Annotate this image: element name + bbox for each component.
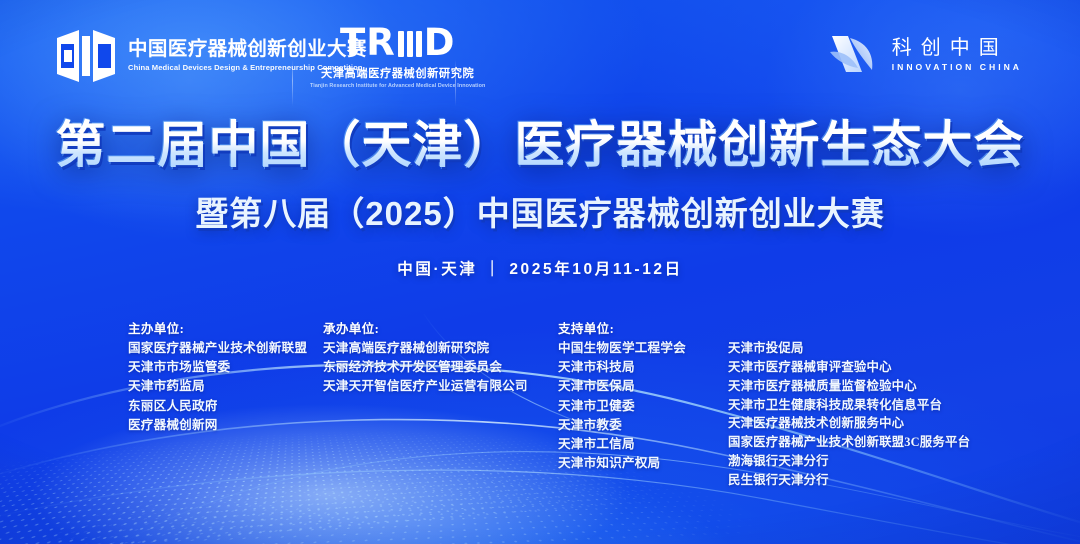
organizer-item: 天津医疗器械技术创新服务中心	[728, 414, 988, 433]
logo-innovation-china-en: INNOVATION CHINA	[892, 62, 1022, 72]
organizer-item: 天津市卫健委	[558, 397, 728, 416]
organizer-item: 医疗器械创新网	[128, 416, 323, 435]
organizer-item: 天津天开智信医疗产业运营有限公司	[323, 377, 558, 396]
organizer-column-supporter-continued: 天津市投促局 天津市医疗器械审评查验中心 天津市医疗器械质量监督检验中心 天津市…	[728, 320, 988, 490]
page-title: 第二届中国（天津）医疗器械创新生态大会	[56, 118, 1025, 173]
organizer-item: 天津市医疗器械质量监督检验中心	[728, 377, 988, 396]
innovation-china-logo-icon	[828, 32, 880, 76]
organizer-item: 天津市工信局	[558, 435, 728, 454]
organizer-column-organizer: 承办单位: 天津高端医疗器械创新研究院 东丽经济技术开发区管理委员会 天津天开智…	[323, 320, 558, 397]
organizer-column-supporter: 支持单位: 中国生物医学工程学会 天津市科技局 天津市医保局 天津市卫健委 天津…	[558, 320, 728, 473]
logo-bar: 中国医疗器械创新创业大赛 China Medical Devices Desig…	[0, 26, 1080, 88]
organizer-item: 国家医疗器械产业技术创新联盟	[128, 339, 323, 358]
organizer-columns: 主办单位: 国家医疗器械产业技术创新联盟 天津市市场监管委 天津市药监局 东丽区…	[0, 320, 1080, 490]
organizer-item: 民生银行天津分行	[728, 471, 988, 490]
organizer-item: 天津市教委	[558, 416, 728, 435]
organizer-item: 天津市药监局	[128, 377, 323, 396]
conference-poster: 中国医疗器械创新创业大赛 China Medical Devices Desig…	[0, 0, 1080, 544]
logo-innovation-china-cn: 科创中国	[892, 37, 1022, 59]
organizer-item: 渤海银行天津分行	[728, 452, 988, 471]
page-subtitle: 暨第八届（2025）中国医疗器械创新创业大赛	[195, 195, 884, 233]
organizer-item: 国家医疗器械产业技术创新联盟3C服务平台	[728, 433, 988, 452]
logo-triid-wordmark: TR D	[340, 24, 455, 61]
logo-triid-cn: 天津高端医疗器械创新研究院	[321, 65, 474, 81]
triid-bars-icon	[398, 31, 422, 57]
organizer-item: 天津市科技局	[558, 358, 728, 377]
logo-divider-1	[292, 60, 293, 106]
logo-triid-en: Tianjin Research Institute for Advanced …	[310, 83, 485, 89]
logo-triid-wordmark-prefix: TR	[340, 24, 396, 61]
organizer-item: 天津市医保局	[558, 377, 728, 396]
organizer-heading: 承办单位:	[323, 320, 558, 339]
logo-innovation-china: 科创中国 INNOVATION CHINA	[828, 32, 1022, 76]
organizer-item: 天津高端医疗器械创新研究院	[323, 339, 558, 358]
organizer-item: 天津市投促局	[728, 339, 988, 358]
organizer-item: 中国生物医学工程学会	[558, 339, 728, 358]
organizer-heading: 支持单位:	[558, 320, 728, 339]
event-date-location: 中国·天津 ｜ 2025年10月11-12日	[397, 257, 683, 279]
organizer-column-host: 主办单位: 国家医疗器械产业技术创新联盟 天津市市场监管委 天津市药监局 东丽区…	[128, 320, 323, 435]
logo-divider-2	[455, 60, 456, 106]
organizer-item: 天津市市场监管委	[128, 358, 323, 377]
logo-triid: TR D 天津高端医疗器械创新研究院 Tianjin Research Inst…	[310, 24, 485, 89]
organizer-item: 天津市医疗器械审评查验中心	[728, 358, 988, 377]
organizer-item: 东丽区人民政府	[128, 397, 323, 416]
organizer-item: 东丽经济技术开发区管理委员会	[323, 358, 558, 377]
title-block: 第二届中国（天津）医疗器械创新生态大会 暨第八届（2025）中国医疗器械创新创业…	[0, 118, 1080, 279]
organizer-heading: 主办单位:	[128, 320, 323, 339]
open-door-logo-icon	[55, 28, 117, 84]
logo-triid-wordmark-suffix: D	[424, 24, 456, 61]
organizer-item: 天津市卫生健康科技成果转化信息平台	[728, 396, 988, 415]
organizer-item: 天津市知识产权局	[558, 454, 728, 473]
